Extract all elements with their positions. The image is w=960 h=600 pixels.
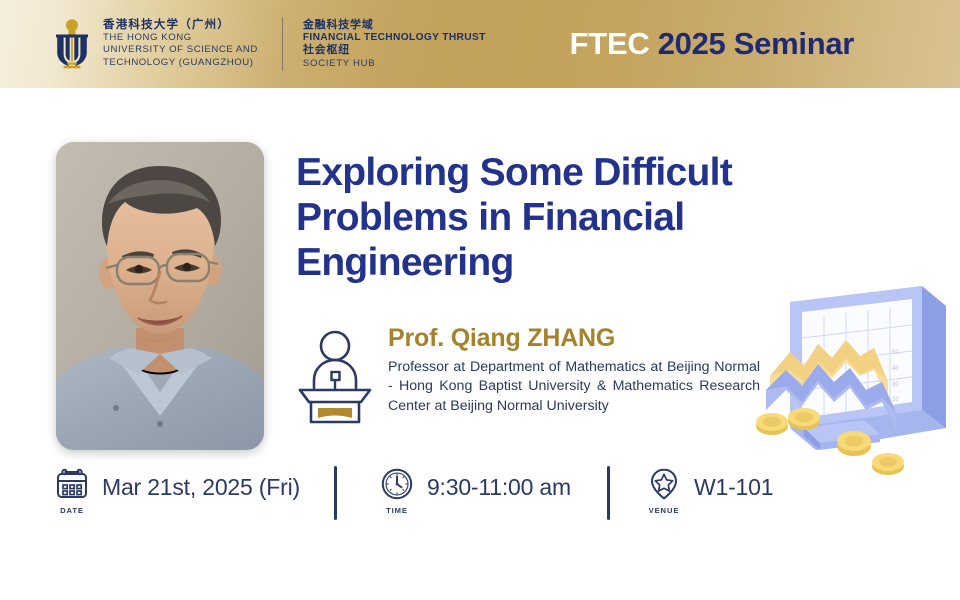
illustration-axis-label-2: 30 [892,382,899,388]
speaker-name: Prof. Qiang ZHANG [388,324,760,353]
seminar-poster: 香港科技大学（广州） THE HONG KONG UNIVERSITY OF S… [0,0,960,600]
finance-chart-monitor-with-coins-illustration: 50 40 30 20 [746,278,958,478]
speaker-affiliation: Professor at Department of Mathematics a… [388,358,760,416]
event-venue: VENUE W1-101 [638,466,773,515]
series-prefix-label: FTEC [570,26,650,61]
date-caption: DATE [60,506,84,515]
society-hub-chinese: 社会枢纽 [303,44,486,57]
time-caption: TIME [386,506,408,515]
university-name-line-3: TECHNOLOGY (GUANGZHOU) [103,57,258,69]
clock-icon [380,466,414,502]
thrust-name-english: FINANCIAL TECHNOLOGY THRUST [303,32,486,44]
university-name-line-1: THE HONG KONG [103,32,258,44]
divider-date-time [334,466,337,520]
event-time: TIME 9:30-11:00 am [371,466,571,515]
calendar-icon [55,466,89,502]
event-details-bar: DATE Mar 21st, 2025 (Fri) [0,466,960,538]
illustration-axis-label-3: 20 [892,397,899,403]
time-icon-wrap: TIME [371,466,423,515]
university-name-chinese: 香港科技大学（广州） [103,19,258,32]
date-icon-wrap: DATE [46,466,98,515]
speaker-photo [56,142,264,450]
hkust-logo-icon [52,18,92,70]
event-date: DATE Mar 21st, 2025 (Fri) [46,466,300,515]
seminar-series-title: FTEC 2025 Seminar [570,26,854,62]
illustration-axis-label-0: 50 [892,350,899,356]
page-title: Exploring Some Difficult Problems in Fin… [296,150,862,286]
divider-time-venue [607,466,610,520]
speaker-text-block: Prof. Qiang ZHANG Professor at Departmen… [388,322,760,416]
speaker-info: Prof. Qiang ZHANG Professor at Departmen… [298,322,768,424]
poster-header-band: 香港科技大学（广州） THE HONG KONG UNIVERSITY OF S… [0,0,960,88]
society-hub-english: SOCIETY HUB [303,58,486,70]
venue-caption: VENUE [649,506,680,515]
series-year-label: 2025 Seminar [649,26,854,61]
venue-icon-wrap: VENUE [638,466,690,515]
hkust-logo-lockup: 香港科技大学（广州） THE HONG KONG UNIVERSITY OF S… [52,18,258,70]
university-name-block: 香港科技大学（广州） THE HONG KONG UNIVERSITY OF S… [103,19,258,69]
header-vertical-divider [282,17,283,71]
location-pin-icon [647,466,681,502]
date-value: Mar 21st, 2025 (Fri) [102,466,300,501]
illustration-graphic: 50 40 30 20 [746,278,958,478]
time-value: 9:30-11:00 am [427,466,571,501]
speaker-podium-icon [298,328,372,424]
university-name-line-2: UNIVERSITY OF SCIENCE AND [103,44,258,56]
illustration-axis-label-1: 40 [892,366,899,372]
thrust-name-block: 金融科技学域 FINANCIAL TECHNOLOGY THRUST 社会枢纽 … [303,19,486,69]
venue-value: W1-101 [694,466,773,501]
thrust-name-chinese: 金融科技学域 [303,19,486,32]
speaker-portrait-graphic [56,142,264,450]
